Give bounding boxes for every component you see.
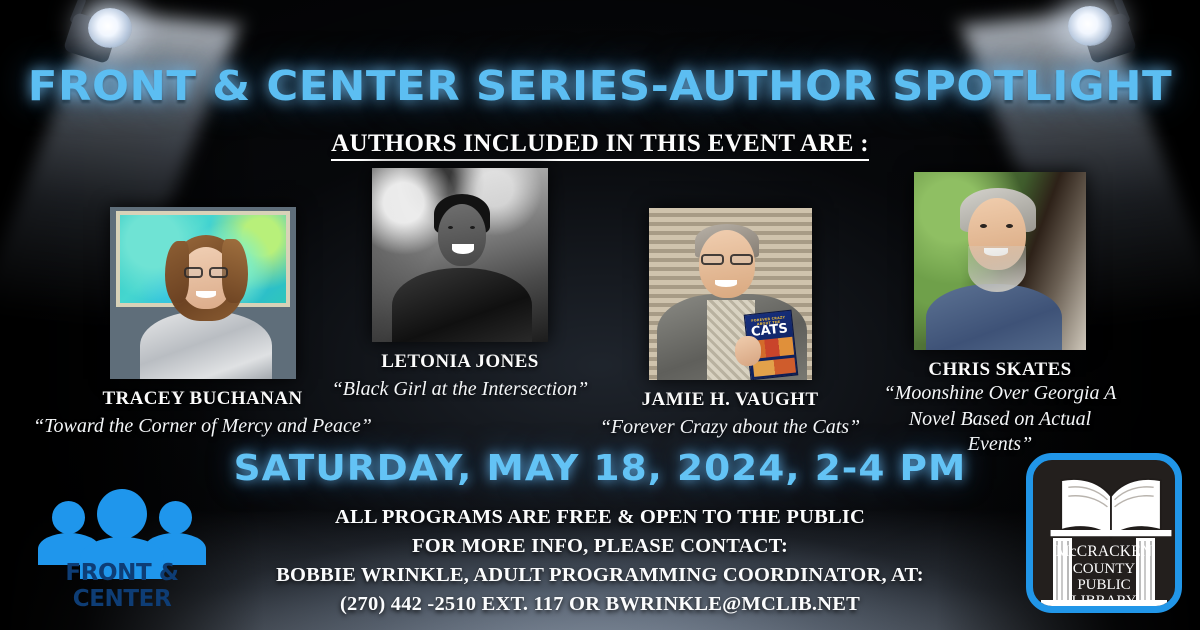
- library-logo-inner: McCRACKEN COUNTY PUBLIC LIBRARY: [1033, 460, 1175, 606]
- author-book-title: “Toward the Corner of Mercy and Peace”: [0, 414, 405, 440]
- eyeglasses-icon: [701, 254, 724, 265]
- subject-jacket: [392, 268, 532, 342]
- open-book-icon: [1033, 466, 1182, 546]
- eyeglasses-icon: [184, 267, 203, 278]
- event-poster: FRONT & CENTER SERIES-AUTHOR SPOTLIGHT A…: [0, 0, 1200, 630]
- subject-hand: [735, 336, 761, 366]
- author-photo-letonia-jones: [372, 168, 548, 342]
- subject-face: [438, 204, 486, 266]
- spotlight-right-bulb: [1068, 6, 1112, 46]
- subject-torso: [140, 311, 272, 379]
- front-center-logo: FRONT & CENTER: [38, 487, 206, 612]
- author-photo-chris-skates: [914, 172, 1086, 350]
- author-name: CHRIS SKATES: [800, 359, 1200, 381]
- subject-denim-shirt: [926, 284, 1062, 350]
- author-card-chris-skates: CHRIS SKATES “Moonshine Over Georgia A N…: [800, 172, 1200, 458]
- eyeglasses-icon-2: [209, 267, 228, 278]
- subject-eye-left: [448, 226, 453, 229]
- event-date: SATURDAY, MAY 18, 2024, 2-4 PM: [0, 448, 1200, 489]
- library-logo: McCRACKEN COUNTY PUBLIC LIBRARY: [1026, 453, 1182, 613]
- subject-eye-left: [980, 224, 987, 228]
- poster-subtitle: AUTHORS INCLUDED IN THIS EVENT ARE :: [0, 130, 1200, 158]
- subject-smile: [715, 280, 737, 287]
- library-name-line-1: McCRACKEN: [1033, 544, 1175, 561]
- subject-smile: [196, 291, 216, 298]
- library-name-line-2: COUNTY: [1033, 561, 1175, 577]
- person-head-center: [97, 489, 147, 539]
- person-head-left: [52, 501, 85, 534]
- poster-subtitle-text: AUTHORS INCLUDED IN THIS EVENT ARE :: [331, 130, 869, 161]
- poster-title: FRONT & CENTER SERIES-AUTHOR SPOTLIGHT: [0, 62, 1200, 110]
- subject-beard: [968, 246, 1026, 292]
- subject-smile: [452, 244, 474, 254]
- spotlight-left-bulb: [88, 8, 132, 48]
- library-name-line-3: PUBLIC: [1033, 577, 1175, 593]
- author-book-title: “Moonshine Over Georgia A Novel Based on…: [880, 381, 1120, 458]
- subject-eye-right: [1006, 224, 1013, 228]
- subject-eye-right: [470, 226, 475, 229]
- library-name-line-4: LIBRARY: [1033, 593, 1175, 609]
- eyeglasses-icon-2: [730, 254, 753, 265]
- person-head-right: [159, 501, 192, 534]
- front-center-logo-label: FRONT & CENTER: [38, 560, 206, 612]
- author-photo-jamie-h-vaught: FOREVER CRAZY ABOUT THE CATS: [649, 208, 812, 380]
